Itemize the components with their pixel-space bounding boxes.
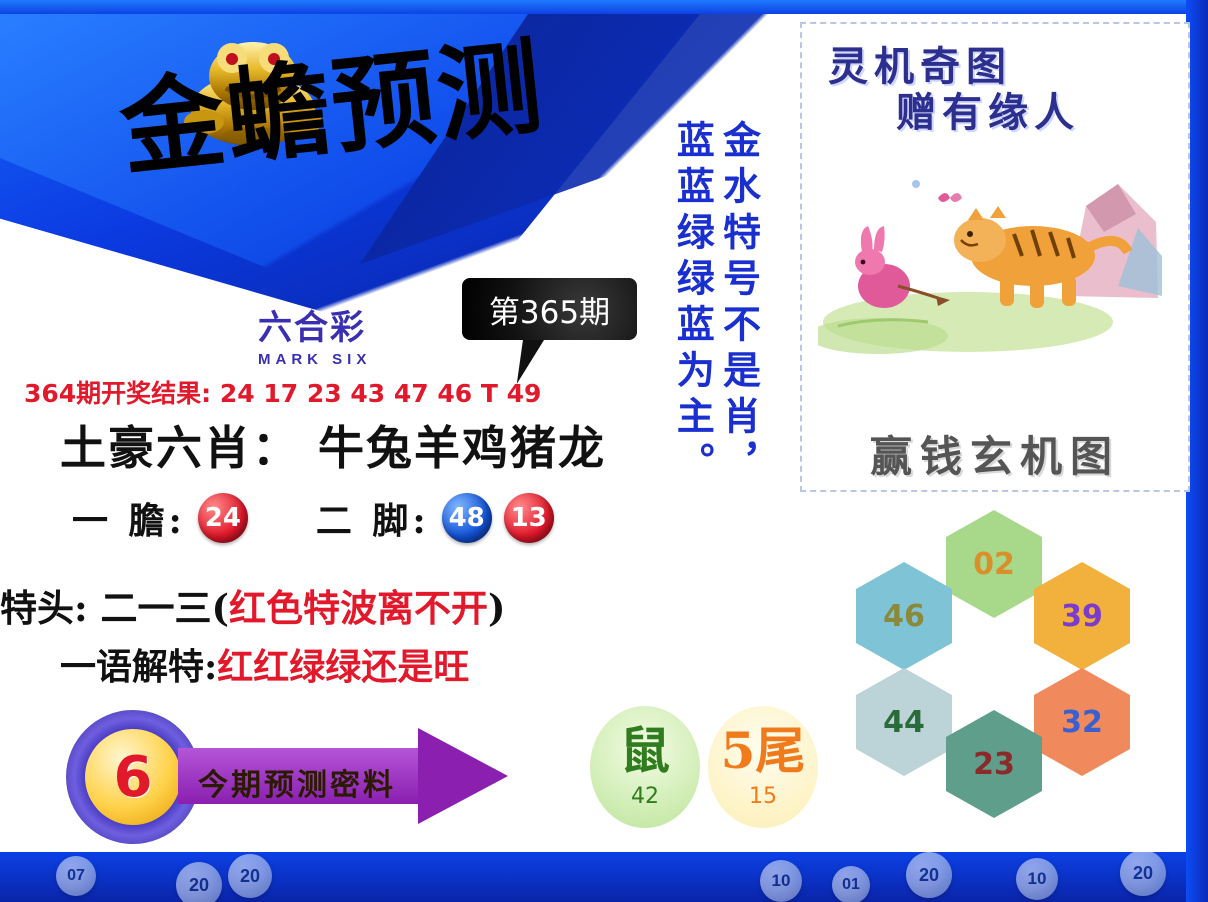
jiete-line: 一语解特:红红绿绿还是旺 bbox=[60, 638, 469, 690]
poem-column-1: 蓝蓝绿绿蓝为主。 bbox=[672, 120, 712, 488]
six-zodiac-row: 土豪六肖：牛兔羊鸡猪龙 bbox=[60, 412, 606, 478]
bg-ball: 07 bbox=[56, 856, 96, 896]
arrow-head bbox=[418, 728, 508, 824]
hex-number: 39 bbox=[1034, 562, 1130, 670]
egg-zodiac-small: 42 bbox=[631, 784, 659, 809]
foot-label: 二 脚: bbox=[316, 492, 430, 544]
hex-value: 02 bbox=[973, 547, 1015, 582]
bg-ball: 10 bbox=[760, 860, 802, 902]
hex-number: 32 bbox=[1034, 668, 1130, 776]
hex-value: 23 bbox=[973, 747, 1015, 782]
tetou-red: 红色特波离不开 bbox=[229, 586, 488, 630]
big-number-value: 6 bbox=[85, 729, 181, 825]
hex-number-cluster: 02 46 39 44 32 23 bbox=[840, 510, 1170, 800]
brand-cn: 六合彩 bbox=[258, 300, 438, 349]
arrow-label: 今期预测密料 bbox=[198, 760, 396, 804]
draw-results: 364期开奖结果: 24 17 23 43 47 46 T 49 bbox=[24, 374, 541, 410]
poem-column-2: 金水特号不是肖， bbox=[718, 120, 758, 488]
bg-ball: 20 bbox=[228, 854, 272, 898]
egg-tail-small: 15 bbox=[749, 784, 777, 809]
picks-row: 一 膽: 24 二 脚: 48 13 bbox=[72, 492, 554, 544]
hex-number: 02 bbox=[946, 510, 1042, 618]
brand-en: MARK SIX bbox=[258, 351, 438, 368]
six-zodiac-label: 土豪六肖： bbox=[60, 421, 300, 475]
tiger-rabbit-illustration bbox=[818, 136, 1172, 366]
brand-logo: 六合彩 MARK SIX bbox=[258, 300, 438, 368]
egg-tail-big: 5尾 bbox=[721, 726, 806, 776]
dan-label: 一 膽: bbox=[72, 492, 186, 544]
hex-number: 46 bbox=[856, 562, 952, 670]
title-char-3: 预 bbox=[326, 36, 444, 168]
jiete-prefix: 一语解特: bbox=[60, 646, 217, 688]
hex-value: 39 bbox=[1061, 599, 1103, 634]
hex-value: 32 bbox=[1061, 705, 1103, 740]
egg-tail: 5尾 15 bbox=[708, 706, 818, 828]
title-char-1: 金 bbox=[115, 58, 233, 190]
bg-ball: 10 bbox=[1016, 858, 1058, 900]
foot-ball-2: 13 bbox=[504, 493, 554, 543]
card-header: 灵机奇图 赠有缘人 bbox=[802, 24, 1188, 134]
poster-root: 10 20 10 10 20 07 20 20 10 01 20 10 20 bbox=[0, 0, 1208, 902]
hex-value: 46 bbox=[883, 599, 925, 634]
hex-number: 44 bbox=[856, 668, 952, 776]
card-footer: 赢钱玄机图 bbox=[802, 423, 1188, 484]
title-char-2: 蟾 bbox=[220, 47, 338, 179]
bg-ball: 20 bbox=[176, 862, 222, 902]
jiete-red: 红红绿绿还是旺 bbox=[217, 646, 469, 688]
mystic-picture-card: 灵机奇图 赠有缘人 bbox=[800, 22, 1190, 492]
card-head-line-2: 赠有缘人 bbox=[896, 80, 1080, 138]
title-char-4: 测 bbox=[431, 25, 549, 157]
tetou-line: 特头: 二一三(红色特波离不开) bbox=[0, 578, 506, 632]
tetou-prefix: 特头: 二一三( bbox=[0, 586, 229, 630]
prediction-arrow: 今期预测密料 bbox=[178, 728, 508, 824]
tetou-suffix: ) bbox=[488, 586, 506, 630]
vertical-poem: 金水特号不是肖， 蓝蓝绿绿蓝为主。 bbox=[672, 120, 759, 488]
zodiac-tail-eggs: 鼠 42 5尾 15 bbox=[590, 706, 818, 828]
bg-ball: 01 bbox=[832, 866, 870, 902]
hex-value: 44 bbox=[883, 705, 925, 740]
egg-zodiac: 鼠 42 bbox=[590, 706, 700, 828]
bg-ball: 20 bbox=[1120, 850, 1166, 896]
egg-zodiac-big: 鼠 bbox=[620, 726, 670, 776]
issue-label: 第365期 bbox=[489, 287, 610, 332]
dan-ball: 24 bbox=[198, 493, 248, 543]
issue-bubble: 第365期 bbox=[462, 278, 637, 340]
six-zodiac-value: 牛兔羊鸡猪龙 bbox=[318, 421, 606, 475]
bg-ball: 20 bbox=[906, 852, 952, 898]
foot-ball-1: 48 bbox=[442, 493, 492, 543]
